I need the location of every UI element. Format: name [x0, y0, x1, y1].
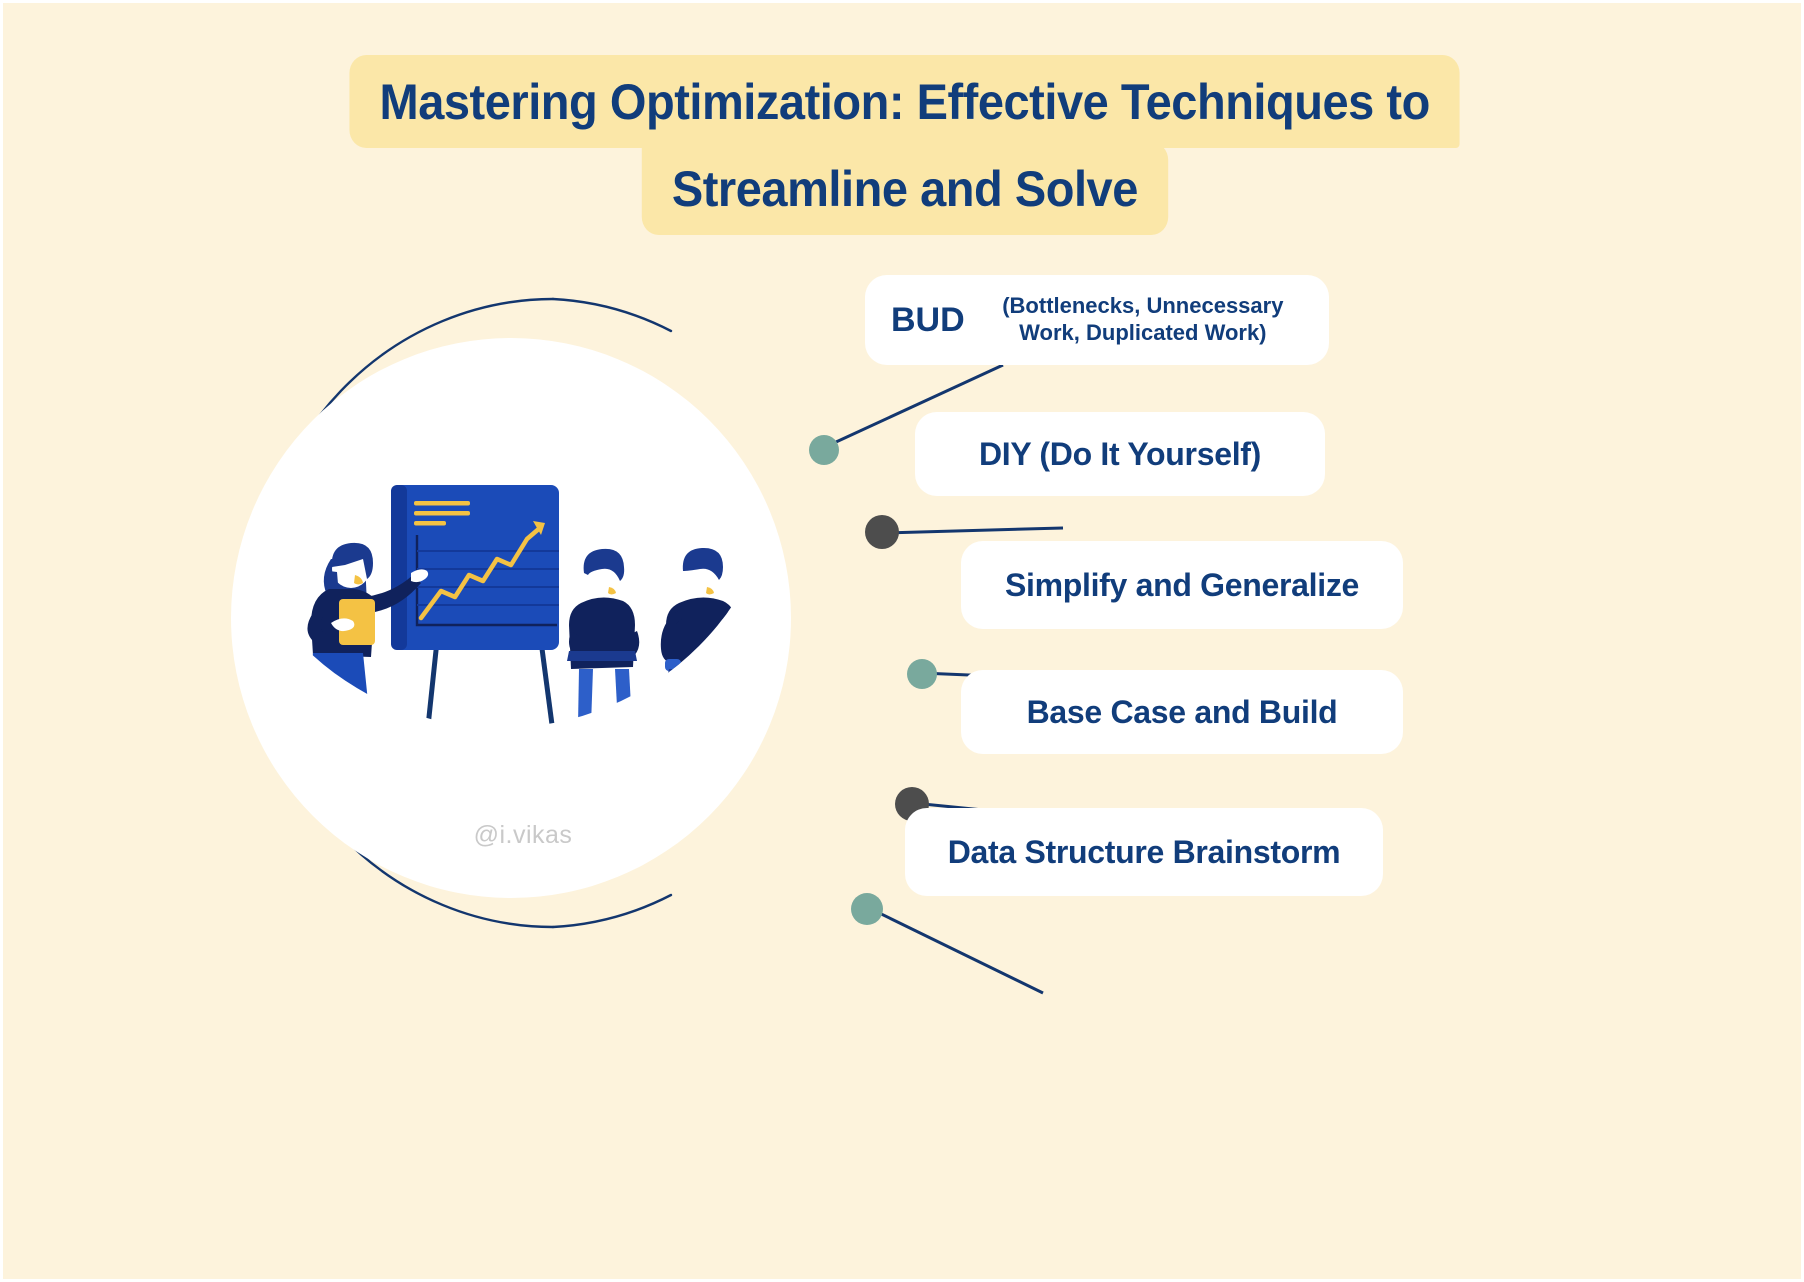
link-data-structure [869, 908, 1043, 993]
title-line-2: Streamline and Solve [642, 142, 1168, 235]
infographic-page: Mastering Optimization: Effective Techni… [0, 0, 1804, 1282]
card-data-structure-label: Data Structure Brainstorm [905, 834, 1383, 871]
card-bud-abbr: BUD [891, 301, 965, 340]
card-diy[interactable]: DIY (Do It Yourself) [915, 412, 1325, 496]
card-simplify-label: Simplify and Generalize [961, 567, 1403, 604]
page-title: Mastering Optimization: Effective Techni… [3, 55, 1804, 235]
card-simplify[interactable]: Simplify and Generalize [961, 541, 1403, 629]
watermark-handle: @i.vikas [173, 821, 873, 850]
card-bud[interactable]: BUD (Bottlenecks, Unnecessary Work, Dupl… [865, 275, 1329, 365]
card-bud-expansion: (Bottlenecks, Unnecessary Work, Duplicat… [983, 293, 1303, 347]
card-data-structure[interactable]: Data Structure Brainstorm [905, 808, 1383, 896]
card-base-case[interactable]: Base Case and Build [961, 670, 1403, 754]
link-diy [883, 528, 1063, 533]
card-diy-label: DIY (Do It Yourself) [915, 436, 1325, 473]
title-line-1: Mastering Optimization: Effective Techni… [350, 55, 1460, 148]
node-dot-simplify[interactable] [907, 659, 937, 689]
presentation-illustration [269, 463, 794, 823]
card-base-case-label: Base Case and Build [961, 694, 1403, 731]
illustration-circle: @i.vikas [173, 273, 873, 953]
node-dot-diy[interactable] [865, 515, 899, 549]
node-dot-data-structure[interactable] [851, 893, 883, 925]
node-dot-bud[interactable] [809, 435, 839, 465]
